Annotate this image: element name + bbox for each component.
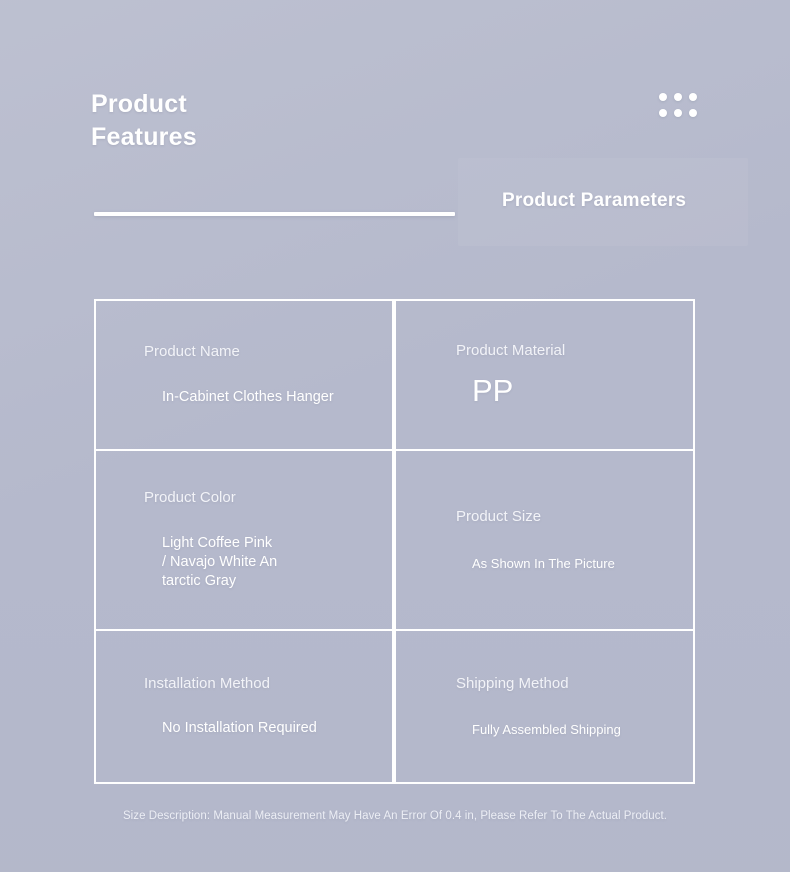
table-cell-product-color: Product Color Light Coffee Pink / Navajo… (96, 451, 392, 631)
size-description-footnote: Size Description: Manual Measurement May… (0, 810, 790, 822)
six-dot-grid-icon (655, 89, 701, 121)
cell-value: As Shown In The Picture (414, 555, 675, 572)
table-cell-product-material: Product Material PP (396, 301, 693, 451)
table-cell-product-size: Product Size As Shown In The Picture (396, 451, 693, 631)
cell-label: Installation Method (114, 675, 374, 694)
table-cell-shipping-method: Shipping Method Fully Assembled Shipping (396, 631, 693, 782)
cell-label: Product Color (114, 489, 374, 508)
page-title: Product Features (91, 88, 197, 154)
table-column-left: Product Name In-Cabinet Clothes Hanger P… (94, 299, 394, 784)
dot-4 (659, 109, 667, 117)
dot-3 (689, 93, 697, 101)
cell-value: In-Cabinet Clothes Hanger (114, 388, 374, 407)
title-underline-rule (94, 212, 455, 216)
cell-label: Shipping Method (414, 675, 675, 694)
cell-label: Product Size (414, 508, 675, 527)
cell-value: PP (414, 375, 675, 408)
dot-1 (659, 93, 667, 101)
dot-5 (674, 109, 682, 117)
table-cell-product-name: Product Name In-Cabinet Clothes Hanger (96, 301, 392, 451)
table-cell-installation-method: Installation Method No Installation Requ… (96, 631, 392, 782)
cell-label: Product Name (114, 343, 374, 362)
dot-6 (689, 109, 697, 117)
cell-value: Light Coffee Pink / Navajo White An tarc… (114, 534, 374, 591)
dot-2 (674, 93, 682, 101)
cell-value: No Installation Required (114, 719, 374, 738)
table-column-right: Product Material PP Product Size As Show… (394, 299, 695, 784)
section-heading: Product Parameters (502, 190, 686, 212)
product-parameters-table: Product Name In-Cabinet Clothes Hanger P… (94, 299, 695, 780)
cell-label: Product Material (414, 342, 675, 361)
cell-value: Fully Assembled Shipping (414, 721, 675, 738)
